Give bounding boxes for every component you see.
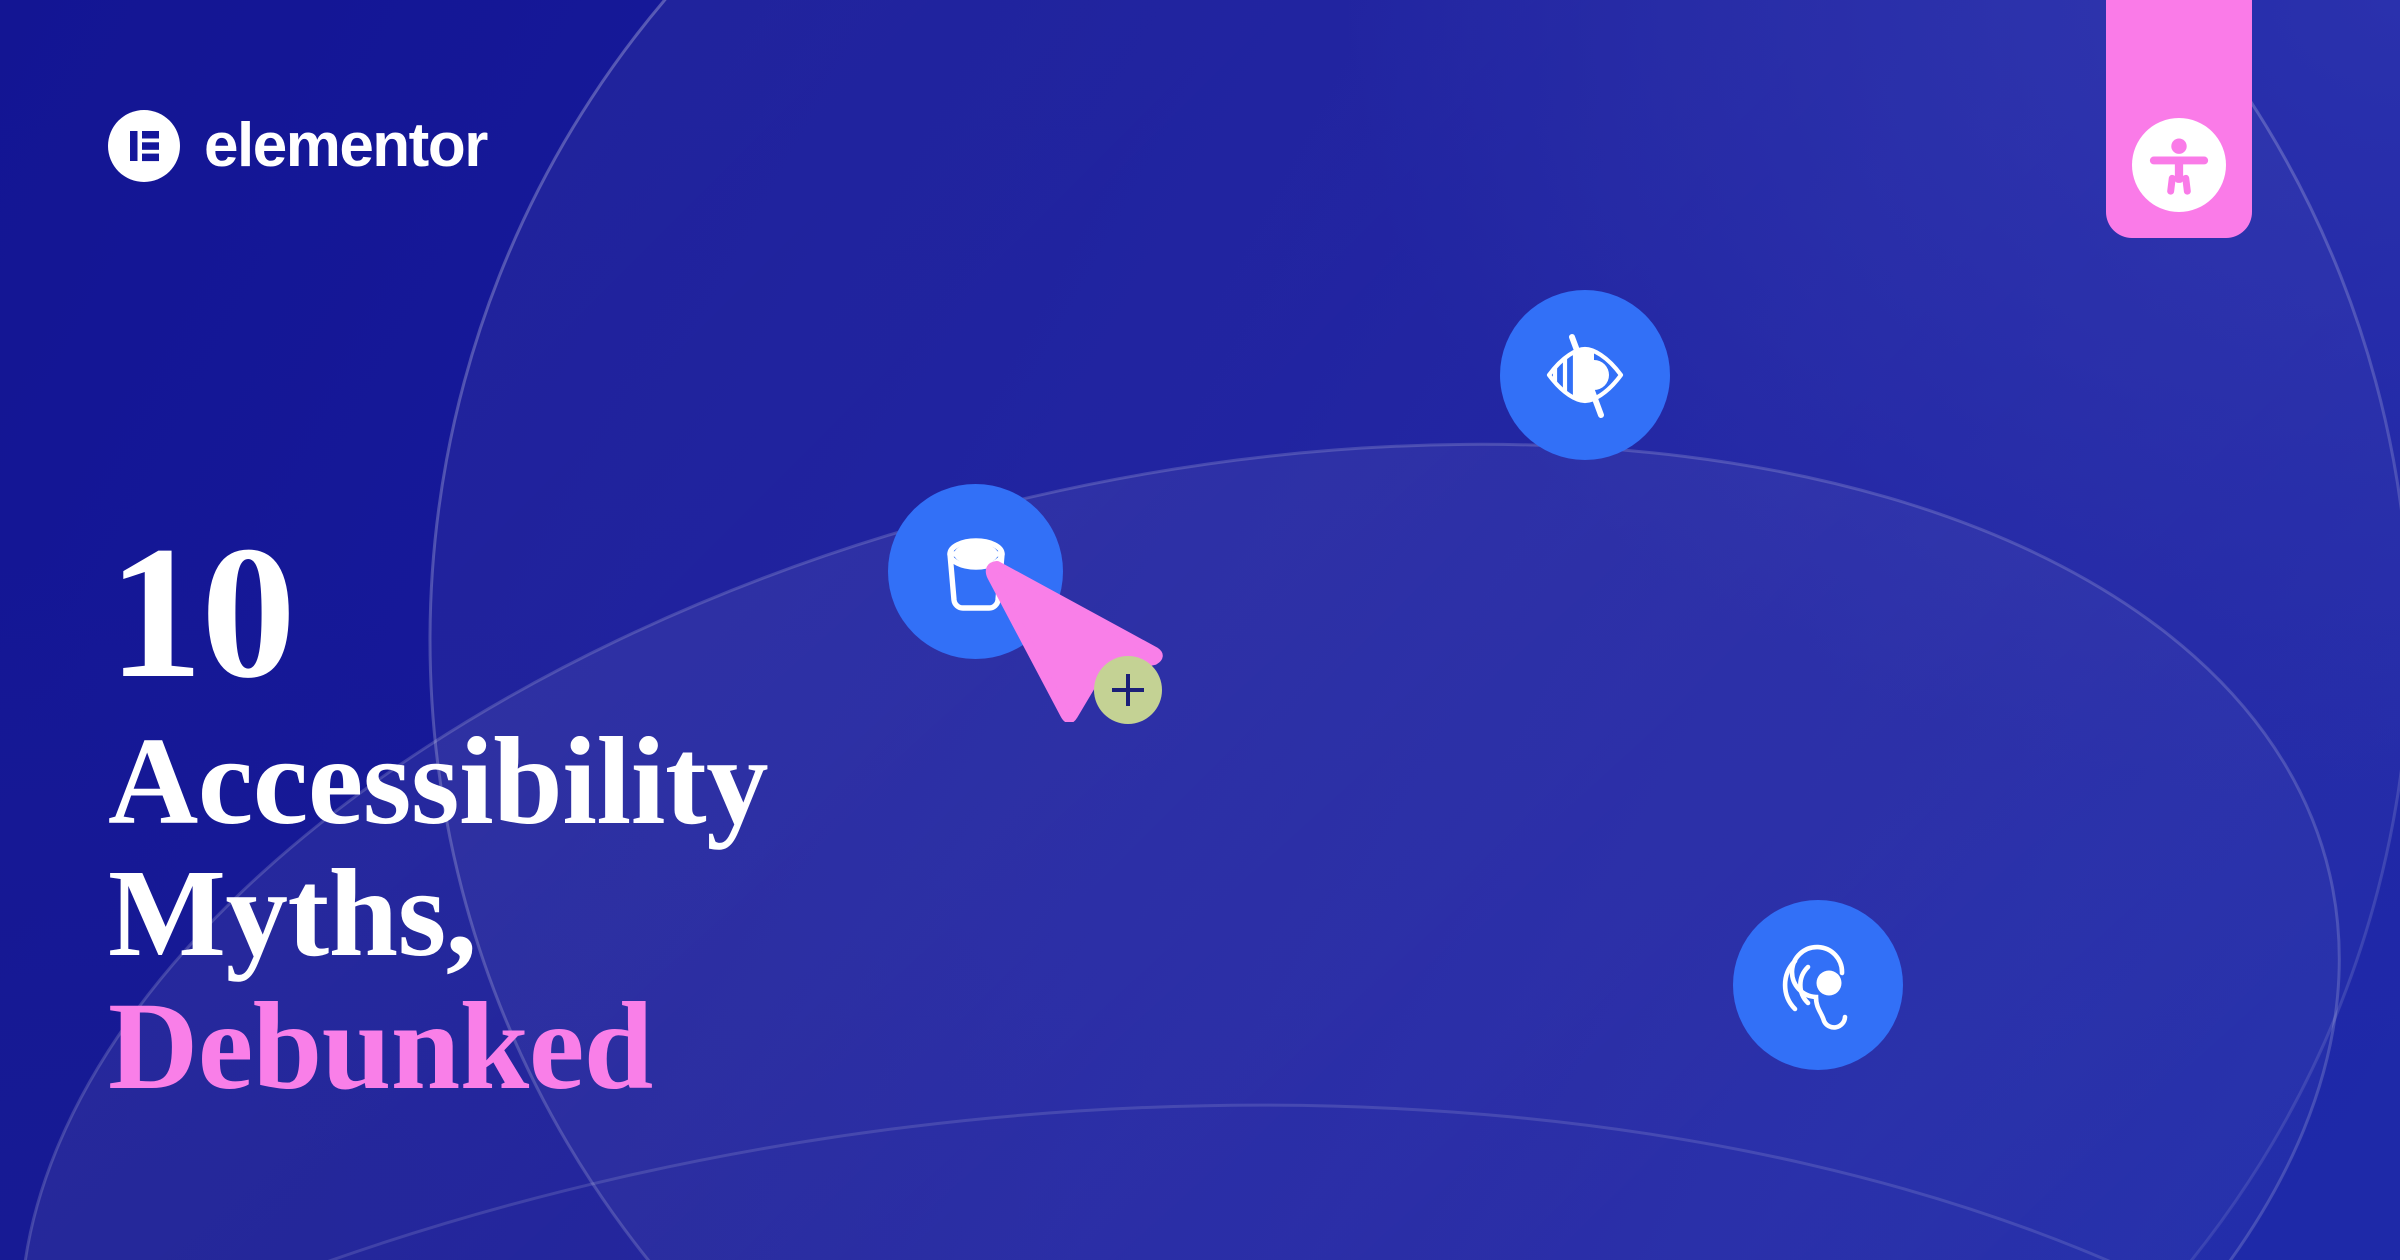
headline-line-3: Debunked [108,981,768,1114]
plus-badge[interactable] [1094,656,1162,724]
headline-line-2: Myths, [108,848,768,981]
brand-wordmark: elementor [204,115,487,177]
elementor-logo-icon [108,110,180,182]
banner-canvas: elementor 10 Accessibility Myths, Debunk… [0,0,2400,1260]
accessibility-person-icon [2132,118,2226,212]
elementor-logo[interactable]: elementor [108,110,487,182]
low-vision-icon-bubble[interactable] [1500,290,1670,460]
page-title: 10 Accessibility Myths, Debunked [108,525,768,1113]
headline-number: 10 [108,525,768,702]
low-vision-icon [1533,323,1637,427]
hearing-impaired-icon-bubble[interactable] [1733,900,1903,1070]
accessibility-widget-tab[interactable] [2106,0,2252,238]
headline-line-1: Accessibility [108,716,768,849]
hearing-impaired-icon [1766,933,1870,1037]
